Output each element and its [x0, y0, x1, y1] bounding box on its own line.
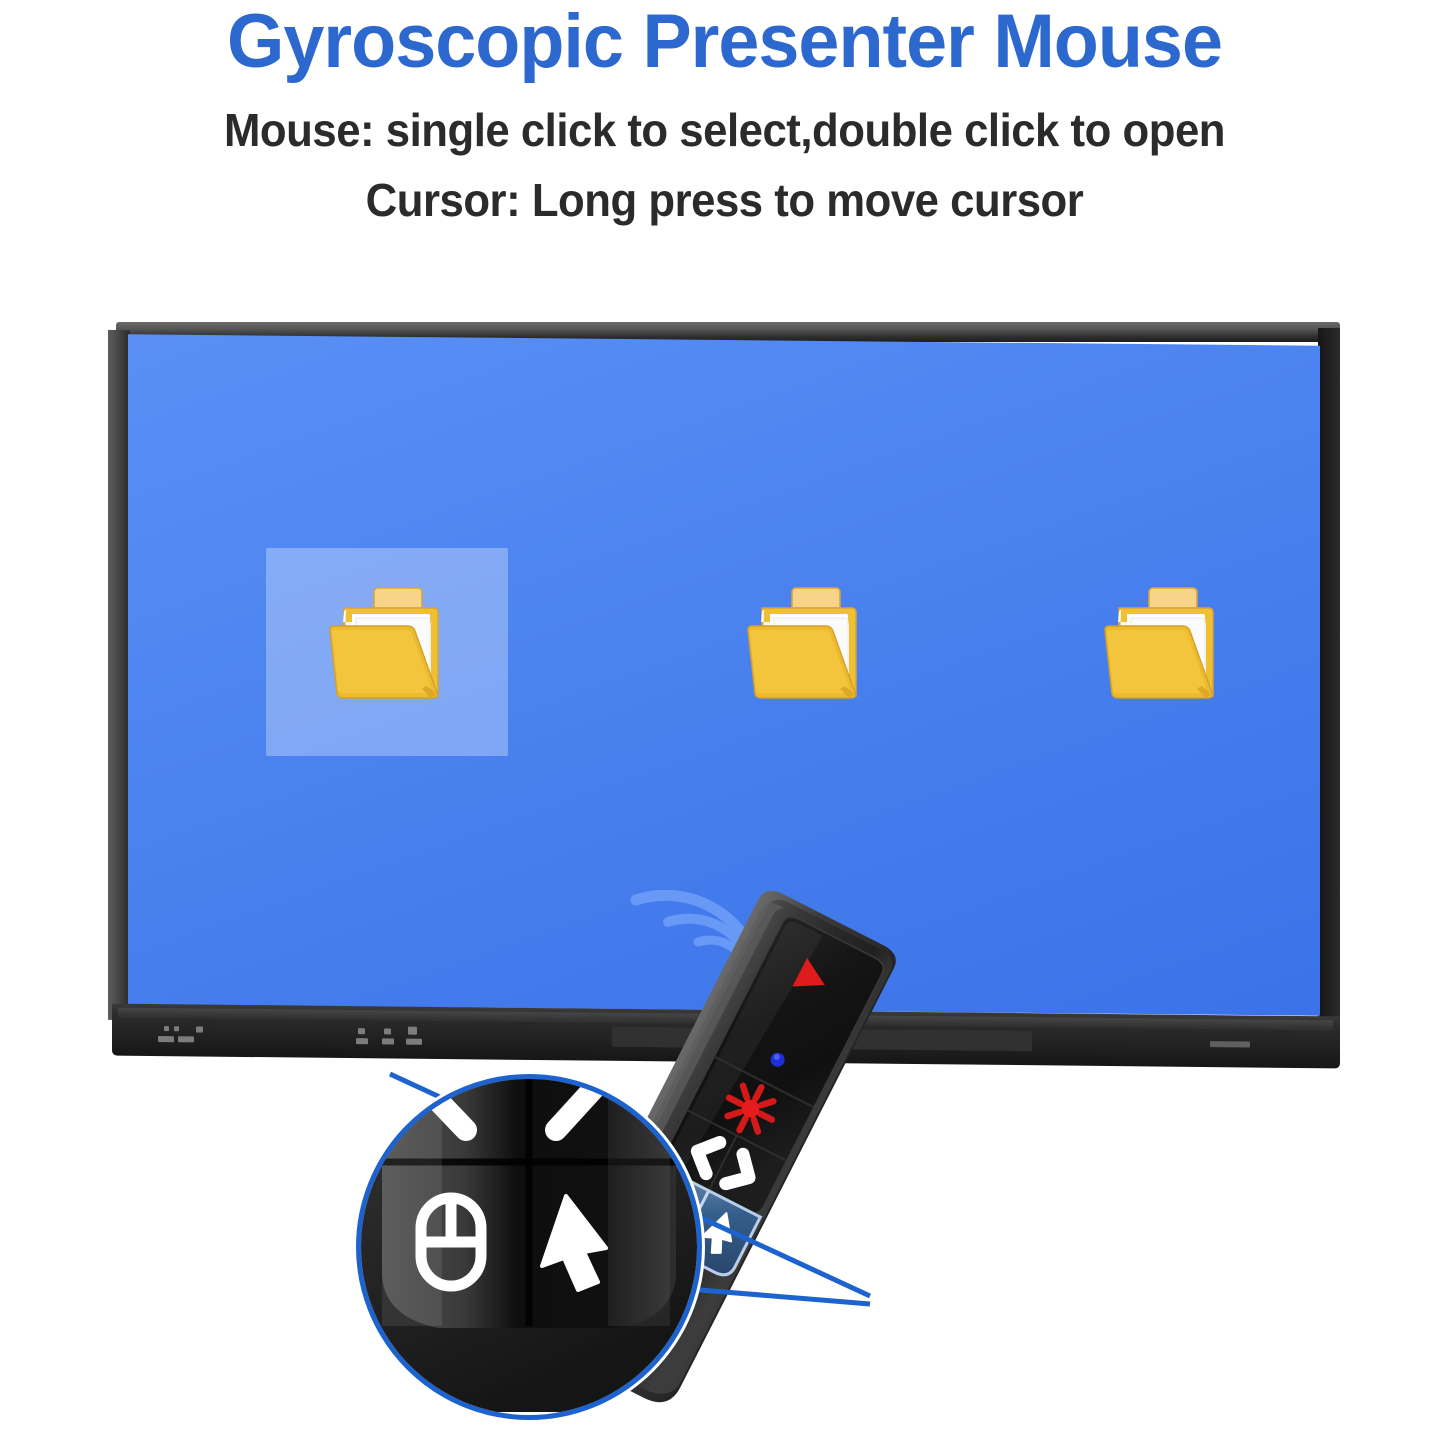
monitor-right-bezel [1318, 328, 1340, 1028]
port-label [382, 1038, 394, 1044]
page-title: Gyroscopic Presenter Mouse [22, 2, 1428, 82]
brand-logo [1210, 1041, 1250, 1047]
monitor-left-bezel [108, 330, 130, 1020]
presenter-remote[interactable] [640, 905, 1200, 1435]
port-label [406, 1039, 422, 1045]
port-indicator [174, 1026, 179, 1031]
port-indicator [384, 1028, 391, 1034]
port-indicator [358, 1028, 365, 1034]
desktop-folder-2[interactable] [726, 574, 884, 714]
desktop-folder-1[interactable] [308, 574, 466, 714]
subtitle-line-2: Cursor: Long press to move cursor [36, 172, 1413, 228]
header-block: Gyroscopic Presenter Mouse Mouse: single… [0, 0, 1449, 228]
port-indicator [408, 1027, 417, 1035]
port-label [158, 1036, 174, 1042]
desktop-folder-3[interactable] [1083, 574, 1241, 714]
port-indicator [164, 1026, 169, 1031]
port-label [356, 1038, 368, 1044]
magnified-button-callout [346, 1064, 712, 1430]
port-label [178, 1036, 194, 1042]
subtitle-line-1: Mouse: single click to select,double cli… [36, 102, 1413, 158]
port-indicator [196, 1026, 203, 1032]
